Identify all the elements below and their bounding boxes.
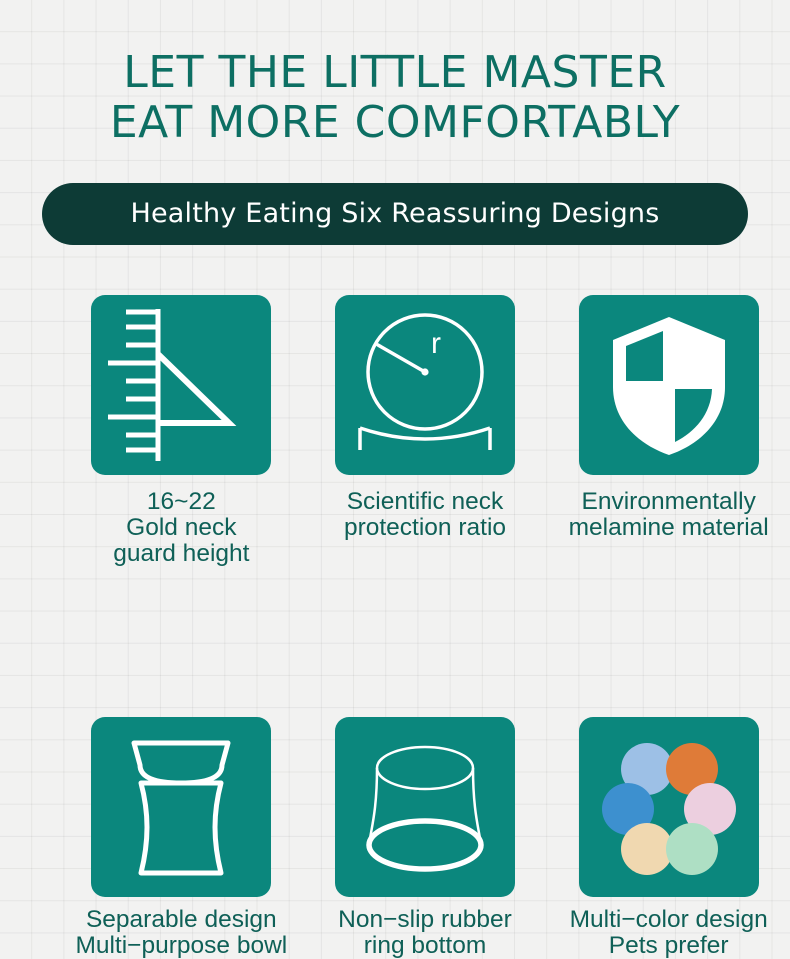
feature-item-nonslip-ring: Non−slip rubber ring bottom bbox=[304, 717, 547, 959]
feature-item-multi-color-design: Multi−color design Pets prefer bbox=[547, 717, 790, 959]
radius-label: r bbox=[431, 327, 441, 360]
nonslip-ring-bowl-icon bbox=[335, 717, 515, 897]
dot-mint bbox=[666, 823, 718, 875]
separable-bowl-icon bbox=[91, 717, 271, 897]
feature-caption: Multi−color design Pets prefer bbox=[570, 907, 768, 959]
feature-icon-tile: r bbox=[335, 295, 515, 475]
feature-icon-tile bbox=[335, 717, 515, 897]
circle-radius-icon: r bbox=[335, 295, 515, 475]
feature-row-top: 16~22 Gold neck guard height r Scientifi… bbox=[0, 295, 790, 567]
dot-tan bbox=[621, 823, 673, 875]
feature-caption: Scientific neck protection ratio bbox=[344, 489, 506, 541]
feature-row-bottom: Separable design Multi−purpose bowl Non−… bbox=[0, 717, 790, 959]
feature-icon-tile bbox=[91, 295, 271, 475]
feature-icon-tile bbox=[579, 295, 759, 475]
feature-icon-tile bbox=[91, 717, 271, 897]
feature-grid: 16~22 Gold neck guard height r Scientifi… bbox=[0, 295, 790, 959]
page-title-line-2: EAT MORE COMFORTABLY bbox=[0, 98, 790, 148]
feature-caption: Separable design Multi−purpose bowl bbox=[75, 907, 287, 959]
ruler-angle-icon bbox=[91, 295, 271, 475]
feature-item-neck-protection-ratio: r Scientific neck protection ratio bbox=[304, 295, 547, 567]
feature-item-gold-neck-height: 16~22 Gold neck guard height bbox=[60, 295, 303, 567]
page-title: LET THE LITTLE MASTER EAT MORE COMFORTAB… bbox=[0, 48, 790, 148]
color-dots-icon bbox=[579, 717, 759, 897]
feature-caption: Non−slip rubber ring bottom bbox=[338, 907, 512, 959]
feature-item-separable-design: Separable design Multi−purpose bowl bbox=[60, 717, 303, 959]
feature-caption: 16~22 Gold neck guard height bbox=[113, 489, 249, 567]
subtitle-banner: Healthy Eating Six Reassuring Designs bbox=[42, 183, 748, 245]
feature-item-melamine-material: Environmentally melamine material bbox=[547, 295, 790, 567]
page-title-line-1: LET THE LITTLE MASTER bbox=[0, 48, 790, 98]
subtitle-banner-label: Healthy Eating Six Reassuring Designs bbox=[130, 199, 659, 229]
feature-caption: Environmentally melamine material bbox=[569, 489, 769, 541]
shield-icon bbox=[579, 295, 759, 475]
feature-icon-tile bbox=[579, 717, 759, 897]
